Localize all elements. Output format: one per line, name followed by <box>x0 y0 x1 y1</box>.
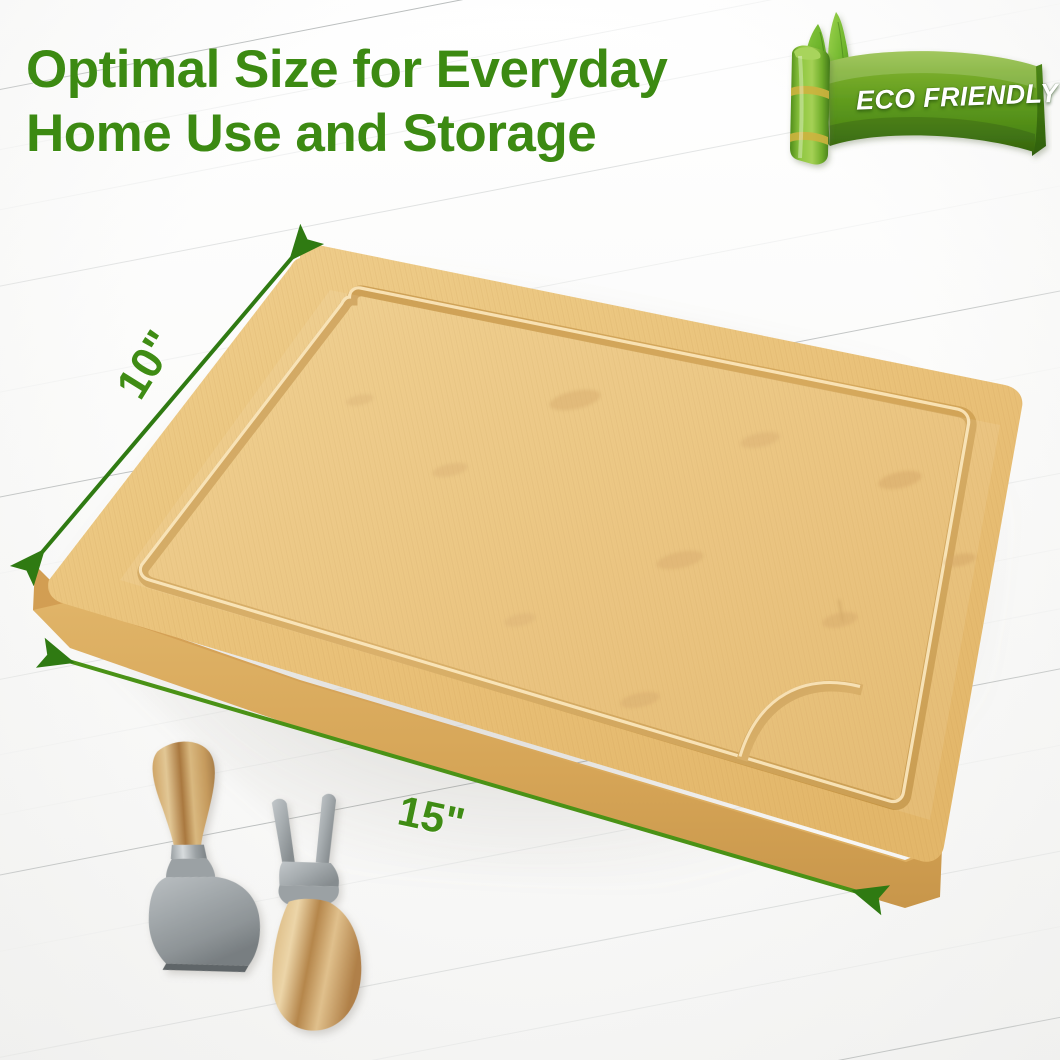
knife-handle <box>151 740 220 850</box>
bamboo-stalk-icon <box>790 45 830 164</box>
knife-bolster <box>165 856 215 880</box>
cheese-knife <box>136 737 263 978</box>
headline-line-2: Home Use and Storage <box>26 102 786 166</box>
fork-tine-right <box>316 793 337 864</box>
depth-dimension-arrow <box>27 240 307 570</box>
fork-neck <box>279 860 340 888</box>
eco-friendly-badge: ECO FRIENDLY <box>770 4 1052 184</box>
knife-blade <box>146 871 263 972</box>
fork-tine-left <box>269 798 298 865</box>
knife-ferrule <box>170 843 207 861</box>
page-title: Optimal Size for Everyday Home Use and S… <box>26 38 786 165</box>
product-image: 10" 15" <box>0 0 1060 1060</box>
cheese-utensils <box>120 735 400 1055</box>
cheese-fork <box>260 791 370 1033</box>
headline-line-1: Optimal Size for Everyday <box>26 40 667 99</box>
fork-handle <box>269 897 365 1033</box>
